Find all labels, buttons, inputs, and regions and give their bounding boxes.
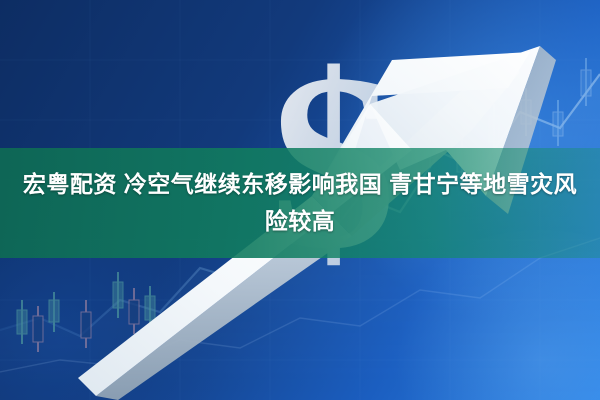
headline-band: 宏粤配资 冷空气继续东移影响我国 青甘宁等地雪灾风险较高 [0,148,600,258]
banner-image: $ [0,0,600,400]
headline-text: 宏粤配资 冷空气继续东移影响我国 青甘宁等地雪灾风险较高 [20,166,580,240]
